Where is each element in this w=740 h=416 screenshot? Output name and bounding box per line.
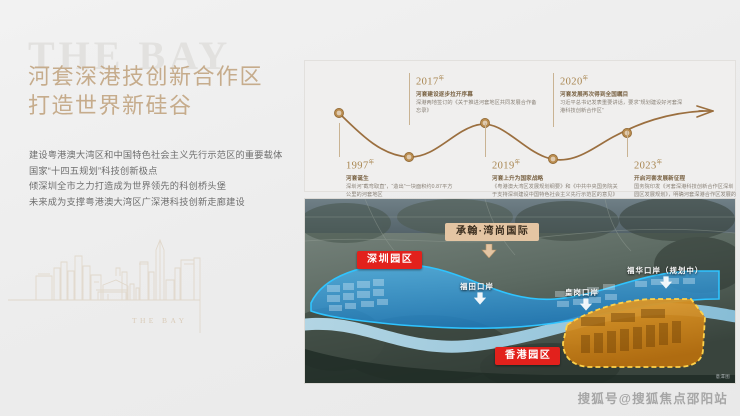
bullet-item: 未来成为支撑粤港澳大湾区广深港科技创新走廊建设 xyxy=(29,195,291,211)
map-badge-hongkong-zone[interactable]: 香港园区 xyxy=(495,347,560,365)
timeline-headline: 河套发展再次得到全国瞩目 xyxy=(560,91,683,99)
map-label-huanggang-port: 皇岗口岸 xyxy=(565,287,599,298)
timeline-node-group xyxy=(334,108,631,163)
down-arrow-icon xyxy=(473,292,487,305)
map-label-futian-port: 福田口岸 xyxy=(460,281,494,292)
down-arrow-icon xyxy=(481,244,497,258)
slide-root: THE BAY 河套深港技创新合作区 打造世界新硅谷 建设粤港澳大湾区和中国特色… xyxy=(0,0,740,416)
timeline-year: 2017年 xyxy=(416,73,539,89)
timeline-card: 1997年 河套诞生 深圳河“截弯取直”，“造出”一块面积约0.87平方公里的河… xyxy=(304,60,736,192)
timeline-connector xyxy=(339,123,340,157)
bullet-item: 建设粤港澳大湾区和中国特色社会主义先行示范区的重要载体 xyxy=(29,148,291,164)
left-panel: THE BAY 河套深港技创新合作区 打造世界新硅谷 建设粤港澳大湾区和中国特色… xyxy=(0,0,300,416)
map-badge-shenzhen-zone[interactable]: 深圳园区 xyxy=(357,251,422,269)
timeline-item-2017[interactable]: 2017年 河套建设逐步拉开序幕 深港两地签订的《关于推进河套地区共同发展合作备… xyxy=(409,73,539,116)
page-title-line-2: 打造世界新硅谷 xyxy=(28,91,263,120)
page-title-line-1: 河套深港技创新合作区 xyxy=(28,62,263,91)
map-badge-chenghan-wanshang[interactable]: 承翰·湾尚国际 xyxy=(445,223,539,241)
timeline-headline: 河套上升为国家战略 xyxy=(492,175,619,183)
timeline-year: 2019年 xyxy=(492,157,619,173)
timeline-body: 习近平总书记发表重要讲话，要求“规划建设好河套深港科技创新合作区” xyxy=(560,100,683,115)
timeline-year: 2023年 xyxy=(634,157,737,173)
timeline-year: 1997年 xyxy=(346,157,455,173)
timeline-year: 2020年 xyxy=(560,73,683,89)
bullet-list: 建设粤港澳大湾区和中国特色社会主义先行示范区的重要载体 国家“十四五规划”科技创… xyxy=(29,148,291,210)
map-credit: 意澤图 xyxy=(716,374,730,380)
timeline-connector xyxy=(409,73,410,125)
timeline-item-2020[interactable]: 2020年 河套发展再次得到全国瞩目 习近平总书记发表重要讲话，要求“规划建设好… xyxy=(553,73,683,116)
down-arrow-icon xyxy=(579,298,593,311)
timeline-connector xyxy=(627,131,628,157)
down-arrow-icon xyxy=(659,276,673,289)
map-label-fuhua-port-planned: 福华口岸（规划中） xyxy=(627,265,703,276)
timeline-item-2019[interactable]: 2019年 河套上升为国家战略 《粤港澳大湾区发展规划纲要》和《中共中央国务院关… xyxy=(485,157,619,200)
city-skyline-icon xyxy=(8,238,293,353)
timeline-item-1997[interactable]: 1997年 河套诞生 深圳河“截弯取直”，“造出”一块面积约0.87平方公里的河… xyxy=(339,157,455,200)
skyline-label: THE BAY xyxy=(132,316,187,325)
timeline-connector xyxy=(553,73,554,127)
timeline-headline: 河套诞生 xyxy=(346,175,455,183)
aerial-map-image[interactable]: 承翰·湾尚国际 深圳园区 香港园区 福田口岸 皇岗口岸 福华口岸（规划中） 意澤… xyxy=(304,198,736,384)
timeline-headline: 河套建设逐步拉开序幕 xyxy=(416,91,539,99)
timeline-body: 深港两地签订的《关于推进河套地区共同发展合作备忘录》 xyxy=(416,100,539,115)
timeline-connector xyxy=(485,123,486,157)
watermark: 搜狐号@搜狐焦点邵阳站 xyxy=(578,388,728,407)
timeline-headline: 开启河套发展新征程 xyxy=(634,175,737,183)
bullet-item: 国家“十四五规划”科技创新极点 xyxy=(29,164,291,180)
bullet-item: 倾深圳全市之力打造成为世界领先的科创桥头堡 xyxy=(29,179,291,195)
page-title: 河套深港技创新合作区 打造世界新硅谷 xyxy=(28,62,263,120)
